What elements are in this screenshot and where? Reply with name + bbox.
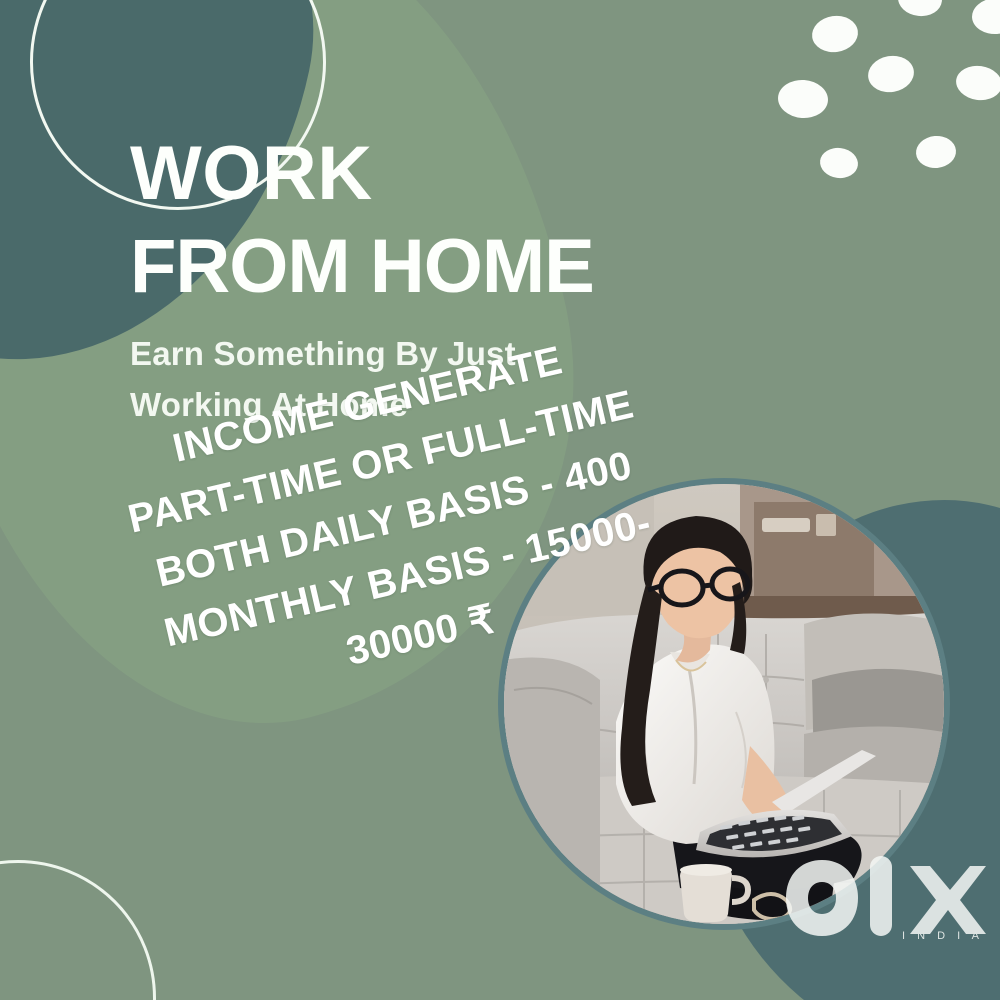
decorative-dots-pattern: [760, 0, 1000, 160]
dot-2: [896, 0, 943, 18]
headline-line-1: WORK: [130, 128, 594, 221]
poster-canvas: WORK FROM HOME Earn Something By Just Wo…: [0, 0, 1000, 1000]
page-title: WORK FROM HOME: [130, 128, 594, 313]
olx-region-label: I N D I A: [902, 930, 983, 942]
headline-line-2: FROM HOME: [130, 221, 594, 314]
dot-4: [777, 78, 830, 119]
olx-watermark: I N D I A: [782, 846, 987, 958]
dot-6: [954, 63, 1000, 103]
dot-1: [810, 13, 861, 55]
dot-5: [865, 52, 917, 95]
dot-3: [971, 0, 1000, 36]
